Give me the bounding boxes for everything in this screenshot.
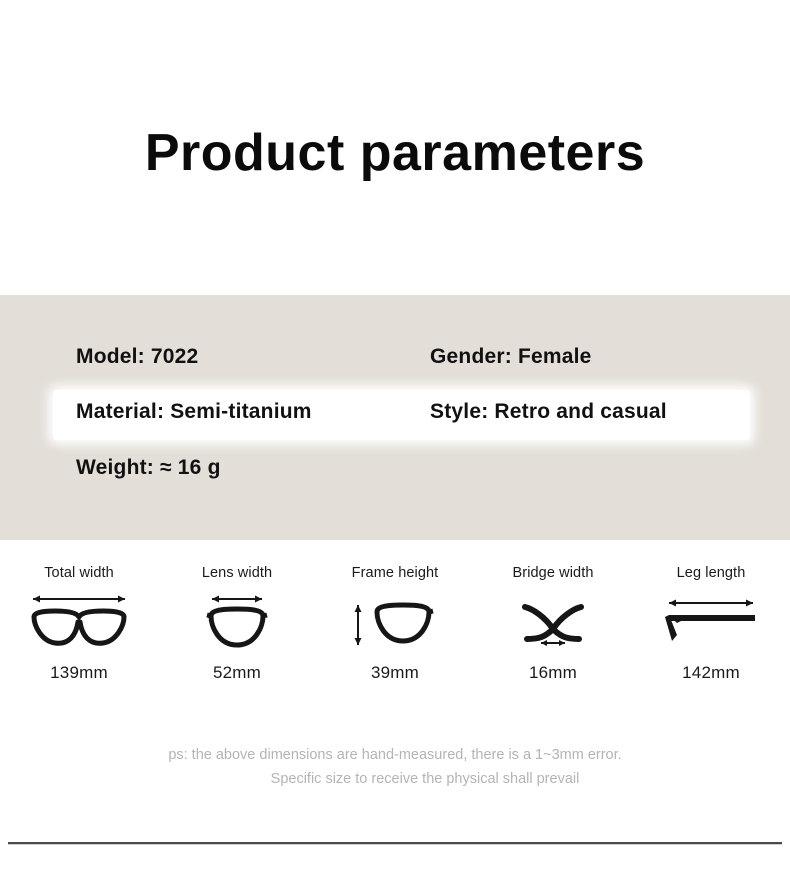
lens-height-icon — [343, 591, 447, 653]
bottom-divider — [8, 842, 782, 845]
dimension-column-leg-length: Leg length 142mm — [632, 565, 790, 683]
nose-bridge-icon — [501, 591, 605, 653]
dimension-label: Lens width — [202, 565, 272, 581]
spec-row: Model: 7022 Gender: Female — [0, 345, 790, 385]
dimension-column-bridge-width: Bridge width 16mm — [474, 565, 632, 683]
dimension-value: 39mm — [371, 663, 419, 683]
dimension-value: 142mm — [682, 663, 740, 683]
spec-row: Weight: ≈ 16 g — [0, 456, 790, 496]
footnote-line-1: ps: the above dimensions are hand-measur… — [168, 747, 621, 763]
dimension-column-lens-width: Lens width 52mm — [158, 565, 316, 683]
spec-row: Material: Semi-titanium Style: Retro and… — [0, 400, 790, 440]
spec-model: Model: 7022 — [76, 345, 198, 369]
glasses-full-frame-icon — [27, 591, 131, 653]
dimension-value: 52mm — [213, 663, 261, 683]
temple-arm-icon — [659, 591, 763, 653]
spec-weight: Weight: ≈ 16 g — [76, 456, 221, 480]
footnote-line-2: Specific size to receive the physical sh… — [0, 768, 790, 792]
spec-material: Material: Semi-titanium — [76, 400, 312, 424]
footnote: ps: the above dimensions are hand-measur… — [0, 744, 790, 792]
dimension-label: Total width — [44, 565, 114, 581]
single-lens-icon — [185, 591, 289, 653]
dimension-value: 139mm — [50, 663, 108, 683]
dimensions-grid: Total width 139mm Lens width — [0, 565, 790, 683]
spec-gender: Gender: Female — [430, 345, 592, 369]
dimension-label: Leg length — [677, 565, 746, 581]
dimension-label: Bridge width — [513, 565, 594, 581]
spec-style: Style: Retro and casual — [430, 400, 667, 424]
page-title: Product parameters — [0, 126, 790, 181]
dimension-value: 16mm — [529, 663, 577, 683]
dimension-label: Frame height — [352, 565, 439, 581]
dimension-column-frame-height: Frame height 39mm — [316, 565, 474, 683]
dimension-column-total-width: Total width 139mm — [0, 565, 158, 683]
